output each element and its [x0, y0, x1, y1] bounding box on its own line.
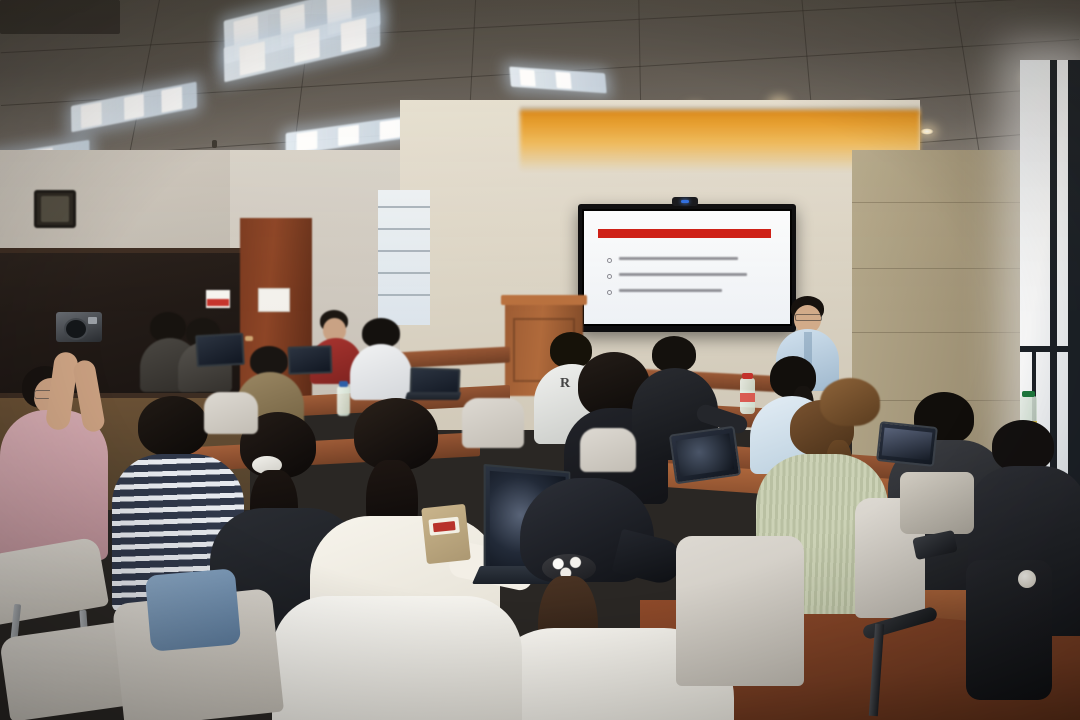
- laptop[interactable]: [195, 333, 245, 367]
- stacking-chair[interactable]: [462, 398, 524, 448]
- paper-notice: [258, 288, 290, 312]
- denim-jacket: [145, 568, 241, 652]
- tablet[interactable]: [669, 426, 741, 485]
- presentation-display: [578, 204, 796, 332]
- water-bottle: [740, 378, 755, 414]
- tote-bag: [421, 504, 471, 564]
- slide-bullet-line: [619, 273, 747, 276]
- tablet[interactable]: [876, 421, 938, 467]
- slide-accent-bar: [598, 229, 771, 238]
- handbag: [900, 472, 974, 534]
- camera[interactable]: [56, 312, 102, 342]
- downlight: [920, 128, 934, 135]
- laptop-keyboard[interactable]: [405, 392, 461, 400]
- stacking-chair[interactable]: [580, 428, 636, 472]
- wall-clock: [34, 190, 76, 228]
- back-window: [378, 190, 430, 325]
- stacking-chair[interactable]: [204, 392, 258, 434]
- black-backpack: [966, 560, 1052, 700]
- slide-bullet-line: [619, 257, 738, 260]
- water-bottle: [337, 386, 350, 416]
- slide-bullet-line: [619, 289, 722, 292]
- lecture-hall-photo: R: [0, 0, 1080, 720]
- red-safety-sign: [206, 290, 230, 308]
- presentation-slide: [584, 211, 790, 324]
- laptop[interactable]: [288, 345, 333, 375]
- video-conference-camera: [672, 197, 698, 206]
- bag-charm: [1018, 570, 1036, 588]
- ceiling-light-panel: [509, 67, 607, 94]
- stacking-chair[interactable]: [676, 536, 804, 686]
